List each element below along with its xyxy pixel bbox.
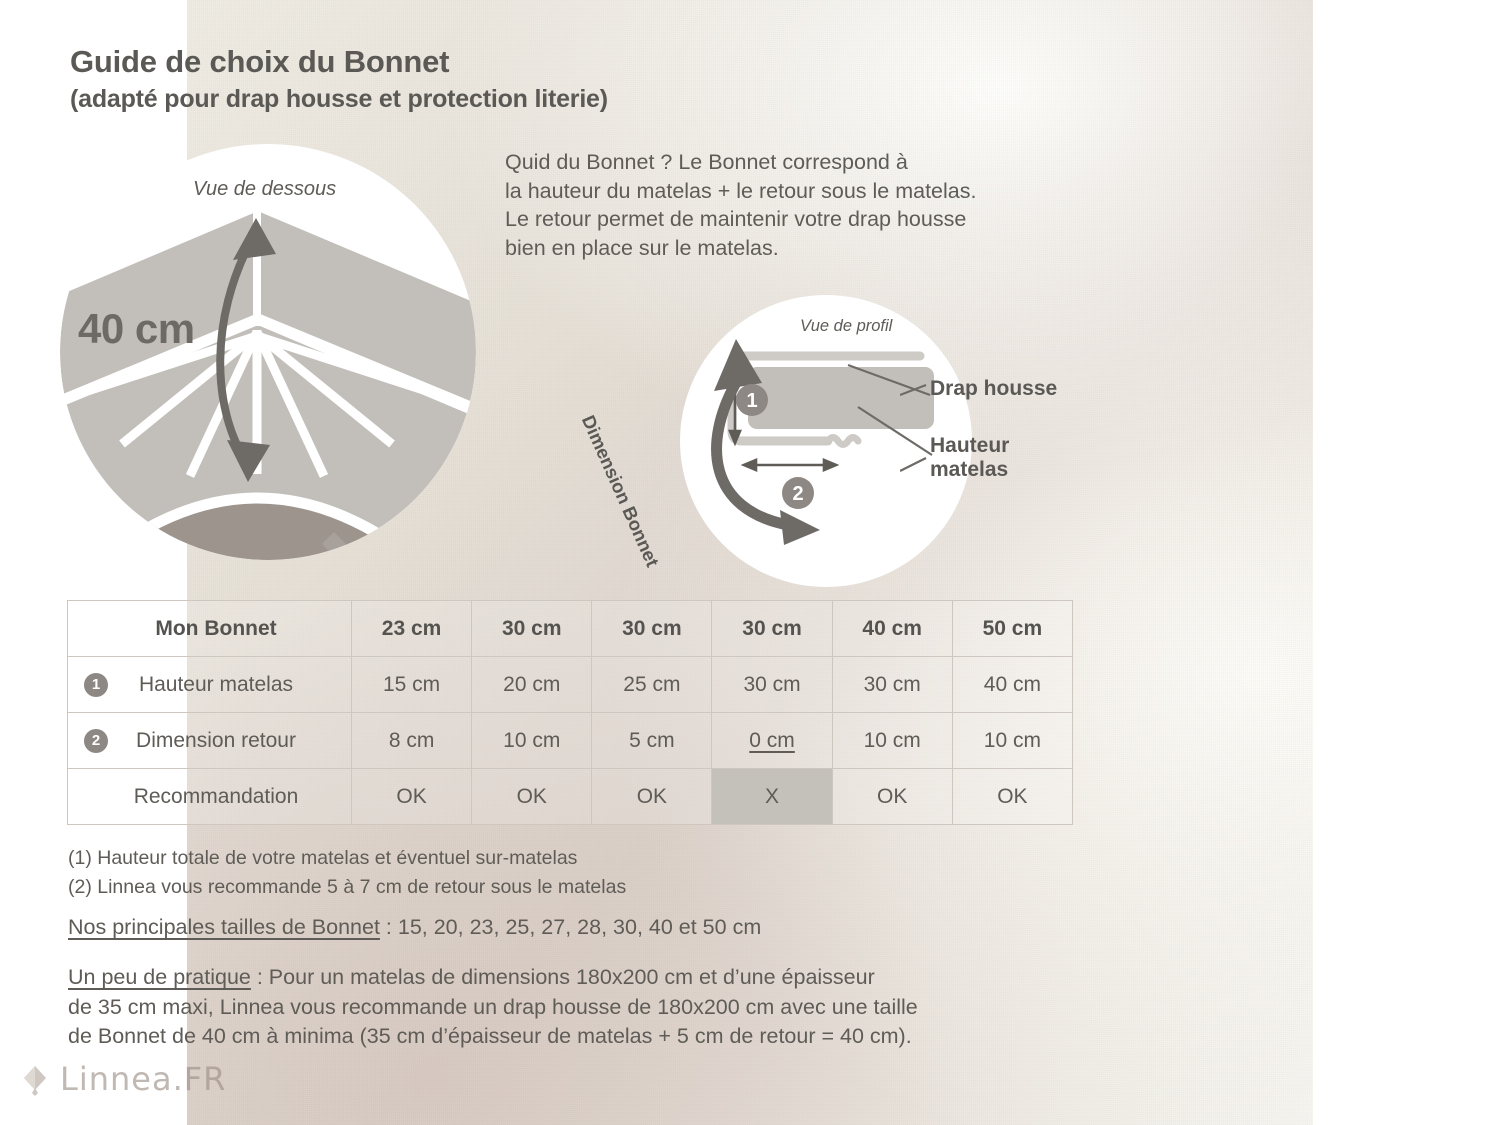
table-cell: 40 cm: [832, 601, 952, 657]
practice-line-1-rest: : Pour un matelas de dimensions 180x200 …: [251, 965, 875, 989]
bonnet-size-table-wrapper: Mon Bonnet 23 cm 30 cm 30 cm 30 cm 40 cm…: [67, 600, 1073, 825]
callout-label-hauteur-matelas: Hauteur matelas: [930, 434, 1009, 482]
dimension-bonnet-label: Dimension Bonnet: [577, 412, 683, 613]
table-row-dimension-retour: 2 Dimension retour 8 cm 10 cm 5 cm 0 cm …: [68, 713, 1073, 769]
footnote-1: (1) Hauteur totale de votre matelas et é…: [68, 845, 577, 871]
table-cell: 8 cm: [352, 713, 472, 769]
table-cell-highlighted: 0 cm: [712, 713, 832, 769]
table-cell: 5 cm: [592, 713, 712, 769]
bottom-view-caption: Vue de dessous: [193, 178, 336, 201]
principal-sizes-label: Nos principales tailles de Bonnet: [68, 915, 380, 939]
table-cell: 10 cm: [832, 713, 952, 769]
principal-sizes-value: : 15, 20, 23, 25, 27, 28, 30, 40 et 50 c…: [380, 915, 761, 939]
title-line-1: Guide de choix du Bonnet: [70, 44, 608, 80]
rowlabel-text: Mon Bonnet: [155, 617, 276, 640]
table-row-hauteur-matelas: 1 Hauteur matelas 15 cm 20 cm 25 cm 30 c…: [68, 657, 1073, 713]
diamond-leaf-icon: [20, 1062, 50, 1096]
badge-2-circle: 2: [782, 477, 814, 509]
table-cell-not-recommended: X: [712, 769, 832, 825]
table-cell: 30 cm: [832, 657, 952, 713]
table-cell: OK: [592, 769, 712, 825]
rowlabel-text: Dimension retour: [136, 729, 296, 752]
practice-line-3: de Bonnet de 40 cm à minima (35 cm d’épa…: [68, 1022, 1068, 1052]
bonnet-size-table: Mon Bonnet 23 cm 30 cm 30 cm 30 cm 40 cm…: [67, 600, 1073, 825]
title-line-2: (adapté pour drap housse et protection l…: [70, 84, 608, 114]
table-cell: OK: [832, 769, 952, 825]
table-cell: OK: [472, 769, 592, 825]
table-cell: OK: [952, 769, 1072, 825]
rowlabel-text: Hauteur matelas: [139, 673, 293, 696]
content-layer: Guide de choix du Bonnet (adapté pour dr…: [0, 0, 1500, 1125]
table-cell: 10 cm: [952, 713, 1072, 769]
table-cell: 15 cm: [352, 657, 472, 713]
table-cell: 40 cm: [952, 657, 1072, 713]
svg-text:1: 1: [746, 390, 757, 412]
callout-hauteur-line1: Hauteur: [930, 434, 1009, 458]
callout-hauteur-line2: matelas: [930, 458, 1009, 482]
linnea-logo[interactable]: Linnea.FR: [20, 1060, 226, 1098]
table-cell: 50 cm: [952, 601, 1072, 657]
elastic-squiggle: [828, 438, 858, 445]
table-rowlabel-mon-bonnet: Mon Bonnet: [68, 601, 352, 657]
table-row-mon-bonnet: Mon Bonnet 23 cm 30 cm 30 cm 30 cm 40 cm…: [68, 601, 1073, 657]
practice-label: Un peu de pratique: [68, 965, 251, 989]
table-cell: 30 cm: [472, 601, 592, 657]
callout-label-drap-housse: Drap housse: [930, 377, 1057, 401]
table-cell: 25 cm: [592, 657, 712, 713]
profile-view-caption: Vue de profil: [800, 317, 892, 336]
measure-retour-arrow: [744, 460, 836, 470]
table-row-recommandation: Recommandation OK OK OK X OK OK: [68, 769, 1073, 825]
table-cell: 30 cm: [712, 657, 832, 713]
footnote-2: (2) Linnea vous recommande 5 à 7 cm de r…: [68, 874, 626, 900]
table-cell: 10 cm: [472, 713, 592, 769]
svg-text:2: 2: [792, 483, 803, 505]
underlined-value: 0 cm: [749, 729, 795, 752]
principal-sizes-line: Nos principales tailles de Bonnet : 15, …: [68, 915, 761, 940]
table-cell: 30 cm: [712, 601, 832, 657]
intro-line-2: la hauteur du matelas + le retour sous l…: [505, 177, 1095, 206]
page-title: Guide de choix du Bonnet (adapté pour dr…: [70, 44, 608, 114]
table-cell: OK: [352, 769, 472, 825]
table-cell: 23 cm: [352, 601, 472, 657]
intro-line-1: Quid du Bonnet ? Le Bonnet correspond à: [505, 148, 1095, 177]
diagram-bottom-view: Vue de dessous 40 cm: [60, 144, 476, 560]
intro-line-3: Le retour permet de maintenir votre drap…: [505, 205, 1095, 234]
table-cell: 30 cm: [592, 601, 712, 657]
table-rowlabel-hauteur-matelas: 1 Hauteur matelas: [68, 657, 352, 713]
table-rowlabel-recommandation: Recommandation: [68, 769, 352, 825]
badge-1-circle: 1: [736, 384, 768, 416]
infographic-page: Guide de choix du Bonnet (adapté pour dr…: [0, 0, 1500, 1125]
intro-line-4: bien en place sur le matelas.: [505, 234, 1095, 263]
practice-line-1: Un peu de pratique : Pour un matelas de …: [68, 963, 1068, 993]
measure-40cm-label: 40 cm: [78, 305, 195, 353]
logo-text: Linnea.FR: [60, 1060, 226, 1098]
badge-1: 1: [84, 673, 108, 697]
table-rowlabel-dimension-retour: 2 Dimension retour: [68, 713, 352, 769]
badge-2: 2: [84, 729, 108, 753]
rowlabel-text: Recommandation: [134, 785, 299, 808]
practice-line-2: de 35 cm maxi, Linnea vous recommande un…: [68, 993, 1068, 1023]
table-cell: 20 cm: [472, 657, 592, 713]
intro-paragraph: Quid du Bonnet ? Le Bonnet correspond à …: [505, 148, 1095, 262]
practice-paragraph: Un peu de pratique : Pour un matelas de …: [68, 963, 1068, 1052]
